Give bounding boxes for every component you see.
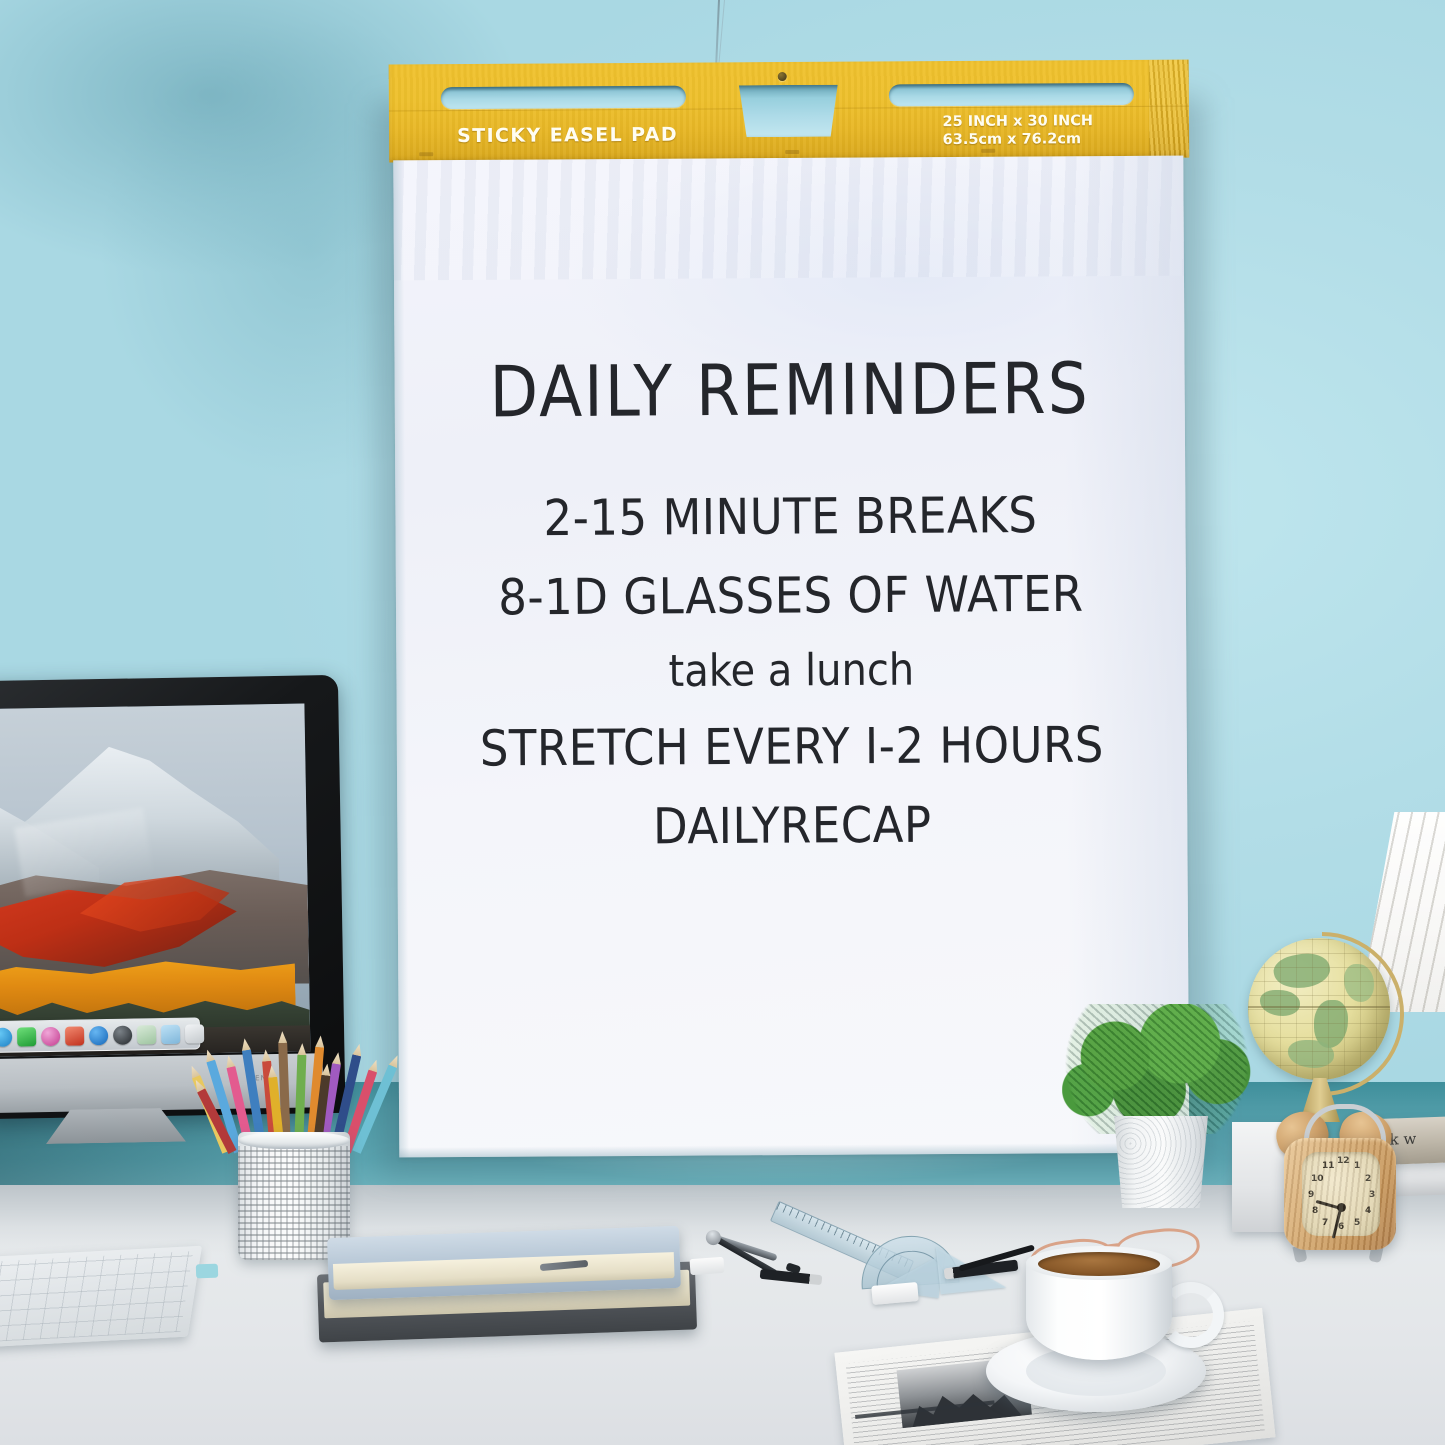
size-imperial: 25 INCH x 30 INCH	[942, 112, 1093, 131]
header-woodgrain	[1149, 60, 1190, 158]
clock-center-pin	[1337, 1203, 1346, 1212]
list-item: 2-15 MINUTE BREAKS	[395, 485, 1185, 548]
header-tab-mark	[419, 152, 433, 156]
notebook-elastic-band	[196, 1264, 218, 1279]
list-item: STRETCH EVERY I-2 HOURS	[397, 715, 1187, 778]
handle-slot-right-icon	[889, 83, 1134, 106]
center-handle-slot-icon	[736, 85, 841, 138]
eraser-icon[interactable]	[689, 1257, 724, 1275]
preview-icon[interactable]	[137, 1025, 156, 1044]
potted-plant[interactable]	[1062, 1004, 1252, 1204]
apple-keyboard[interactable]	[0, 1246, 202, 1349]
header-tab-mark	[981, 149, 995, 153]
clock-number: 5	[1354, 1218, 1360, 1228]
eraser-icon[interactable]	[871, 1282, 918, 1305]
clock-number: 4	[1365, 1206, 1371, 1216]
trash-icon[interactable]	[185, 1024, 204, 1043]
clock-number: 12	[1337, 1156, 1350, 1166]
reminder-list: 2-15 MINUTE BREAKS 8-1D GLASSES OF WATER…	[395, 488, 1187, 855]
notebook-pages	[333, 1252, 675, 1290]
cup-rim	[238, 1132, 350, 1149]
size-label: 25 INCH x 30 INCH 63.5cm x 76.2cm	[942, 112, 1093, 149]
list-item: DAILYRECAP	[397, 794, 1187, 857]
clock-number: 10	[1311, 1174, 1324, 1184]
macos-dock[interactable]	[0, 1017, 200, 1053]
clock-number: 8	[1312, 1206, 1318, 1216]
books-icon[interactable]	[65, 1026, 84, 1045]
itunes-icon[interactable]	[41, 1026, 60, 1045]
easel-pad-header: STICKY EASEL PAD 25 INCH x 30 INCH 63.5c…	[389, 60, 1190, 163]
list-item: take a lunch	[396, 643, 1186, 698]
keyboard-keys	[0, 1251, 193, 1343]
clock-minute-hand	[1332, 1208, 1342, 1239]
notebook-top[interactable]	[327, 1226, 681, 1300]
mesh-pencil-cup[interactable]	[214, 1022, 374, 1272]
clock-number: 6	[1338, 1222, 1344, 1232]
wooden-alarm-clock[interactable]: 12 1 2 3 4 5 6 7 8 9 10 11	[1278, 1112, 1404, 1262]
coffee-liquid	[1038, 1252, 1160, 1276]
pot-texture	[1110, 1116, 1212, 1208]
clock-number: 2	[1365, 1174, 1371, 1184]
page-title: DAILY REMINDERS	[394, 347, 1184, 434]
plant-pot	[1110, 1116, 1212, 1208]
size-metric: 63.5cm x 76.2cm	[943, 130, 1094, 149]
plant-foliage	[1062, 1004, 1252, 1134]
clock-body: 12 1 2 3 4 5 6 7 8 9 10 11	[1284, 1138, 1396, 1250]
sticky-easel-pad[interactable]: STICKY EASEL PAD 25 INCH x 30 INCH 63.5c…	[389, 60, 1196, 1158]
header-tab-mark	[785, 150, 799, 154]
plant-leaf-texture	[1062, 1004, 1252, 1134]
system-preferences-icon[interactable]	[113, 1025, 132, 1044]
facetime-icon[interactable]	[17, 1027, 36, 1046]
scene-root: MENU STICKY EASEL PAD 25 INCH x 30 INCH …	[0, 0, 1445, 1445]
handle-slot-left-icon	[441, 86, 686, 109]
brand-label: STICKY EASEL PAD	[457, 124, 678, 147]
monitor-screen[interactable]	[0, 703, 310, 1057]
clock-hour-hand	[1316, 1200, 1342, 1210]
clock-face: 12 1 2 3 4 5 6 7 8 9 10 11	[1302, 1152, 1380, 1236]
clock-number: 1	[1354, 1161, 1360, 1171]
downloads-icon[interactable]	[161, 1024, 180, 1043]
clock-number: 7	[1322, 1218, 1328, 1228]
messages-icon[interactable]	[0, 1027, 12, 1046]
app-store-icon[interactable]	[89, 1025, 108, 1044]
clock-number: 3	[1369, 1190, 1375, 1200]
nail-hole-icon	[778, 72, 787, 81]
clock-number: 11	[1322, 1161, 1335, 1171]
clock-number: 9	[1308, 1190, 1314, 1200]
list-item: 8-1D GLASSES OF WATER	[396, 564, 1186, 627]
